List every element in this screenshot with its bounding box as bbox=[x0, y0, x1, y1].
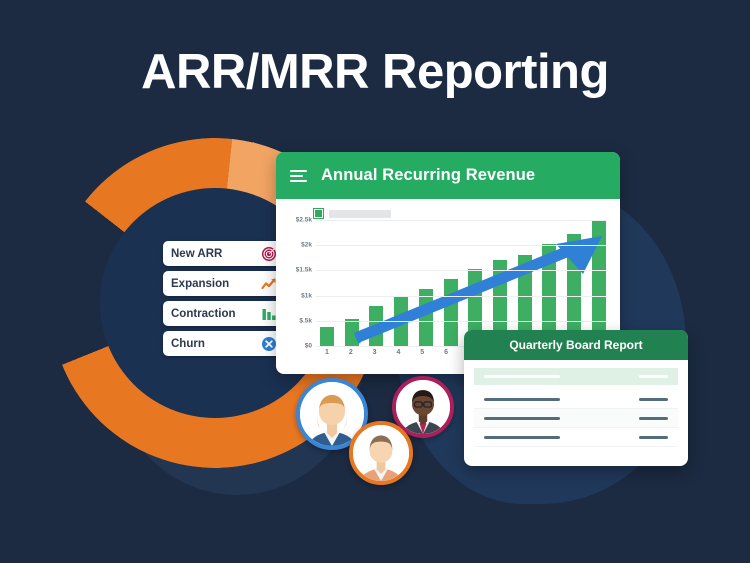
qbr-header-cell bbox=[484, 375, 560, 378]
page-title: ARR/MRR Reporting bbox=[0, 44, 750, 100]
filter-label: Contraction bbox=[171, 308, 261, 320]
filter-item-new-arr[interactable]: New ARR bbox=[163, 241, 285, 266]
chart-gridline bbox=[316, 321, 606, 322]
chart-y-tick-label: $.5k bbox=[299, 317, 312, 324]
qbr-card-title: Quarterly Board Report bbox=[509, 338, 642, 352]
qbr-cell bbox=[484, 436, 560, 439]
chart-gridline bbox=[316, 245, 606, 246]
qbr-card-header: Quarterly Board Report bbox=[464, 330, 688, 360]
chart-y-tick-label: $0 bbox=[305, 343, 312, 350]
qbr-header-cell bbox=[639, 375, 668, 378]
filter-item-expansion[interactable]: Expansion bbox=[163, 271, 285, 296]
qbr-table-row bbox=[474, 428, 678, 447]
quarterly-board-report-card: Quarterly Board Report bbox=[464, 330, 688, 466]
qbr-table-row bbox=[474, 409, 678, 428]
filter-label: New ARR bbox=[171, 248, 261, 260]
qbr-cell bbox=[484, 417, 560, 420]
legend-label-placeholder bbox=[329, 210, 391, 218]
qbr-table-header-row bbox=[474, 368, 678, 385]
chart-x-tick-label: 1 bbox=[320, 349, 334, 356]
chart-plot-area: $0$.5k$1k$1.5k$2k$2.5k bbox=[316, 220, 610, 346]
chart-y-tick-label: $1k bbox=[301, 292, 312, 299]
arr-card-title: Annual Recurring Revenue bbox=[321, 166, 535, 185]
filter-label: Churn bbox=[171, 338, 261, 350]
chart-bar bbox=[419, 289, 433, 346]
filter-label: Expansion bbox=[171, 278, 261, 290]
arr-card-header: Annual Recurring Revenue bbox=[276, 152, 620, 199]
chart-x-tick-label: 4 bbox=[391, 349, 405, 356]
qbr-table-row bbox=[474, 390, 678, 409]
chart-bars bbox=[320, 220, 606, 346]
qbr-cell bbox=[484, 398, 560, 401]
chart-x-tick-label: 6 bbox=[439, 349, 453, 356]
qbr-cell bbox=[639, 417, 668, 420]
target-icon bbox=[261, 246, 277, 262]
chart-y-tick-label: $2.5k bbox=[296, 217, 312, 224]
chart-bar bbox=[592, 220, 606, 346]
legend-swatch bbox=[314, 209, 323, 218]
filter-item-churn[interactable]: Churn bbox=[163, 331, 285, 356]
chart-x-tick-label: 3 bbox=[368, 349, 382, 356]
qbr-cell bbox=[639, 436, 668, 439]
chart-gridline bbox=[316, 270, 606, 271]
chart-bar bbox=[345, 319, 359, 346]
chart-bar bbox=[444, 279, 458, 346]
chart-legend bbox=[314, 209, 610, 218]
chart-y-tick-label: $1.5k bbox=[296, 267, 312, 274]
filter-item-contraction[interactable]: Contraction bbox=[163, 301, 285, 326]
qbr-cell bbox=[639, 398, 668, 401]
chart-bar bbox=[320, 327, 334, 346]
x-circle-icon bbox=[261, 336, 277, 352]
chart-x-tick-label: 5 bbox=[415, 349, 429, 356]
poster-canvas: ARR/MRR Reporting New ARR Expansion bbox=[0, 0, 750, 563]
bar-chart-icon bbox=[261, 306, 277, 322]
chart-x-tick-label: 2 bbox=[344, 349, 358, 356]
chart-gridline bbox=[316, 220, 606, 221]
qbr-table bbox=[464, 360, 688, 455]
chart-bar bbox=[369, 306, 383, 346]
chart-gridline bbox=[316, 296, 606, 297]
chart-y-tick-label: $2k bbox=[301, 242, 312, 249]
trending-up-icon bbox=[261, 276, 277, 292]
avatar-person-orange[interactable] bbox=[349, 421, 413, 485]
metric-filter-list: New ARR Expansion Contraction bbox=[163, 241, 285, 361]
hamburger-icon[interactable] bbox=[290, 167, 307, 185]
